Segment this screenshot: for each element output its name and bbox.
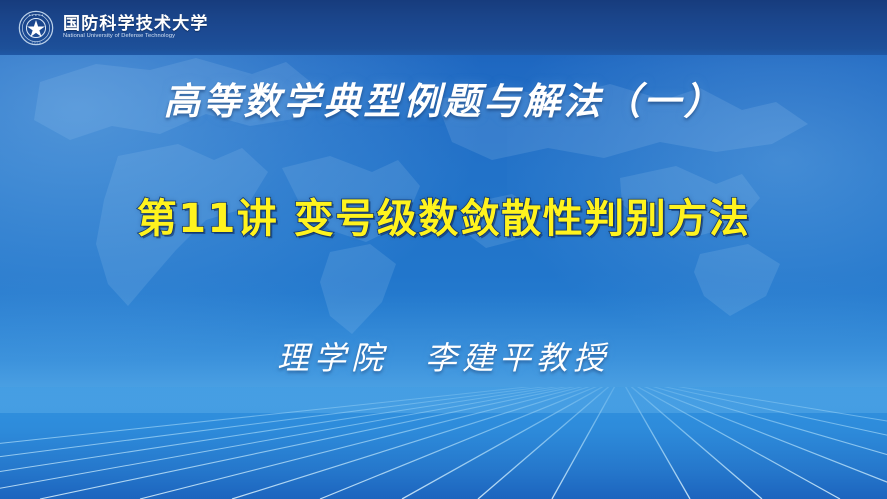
lecture-subtitle: 第11讲 变号级数敛散性判别方法	[0, 195, 887, 243]
perspective-grid-floor	[0, 387, 887, 499]
university-name-en: National University of Defense Technolog…	[63, 34, 212, 40]
presentation-title-slide: ★ ★ ★ ★ ★ 1 9 5 3 国防科学技术大学 National Univ…	[0, 0, 887, 499]
university-name-cn: 国防科学技术大学	[63, 16, 209, 33]
nudt-star-emblem-icon: ★ ★ ★ ★ ★ 1 9 5 3	[18, 10, 54, 46]
presenter-line: 理学院 李建平教授	[0, 338, 887, 378]
university-branding: ★ ★ ★ ★ ★ 1 9 5 3 国防科学技术大学 National Univ…	[18, 10, 209, 46]
header-band: ★ ★ ★ ★ ★ 1 9 5 3 国防科学技术大学 National Univ…	[0, 0, 887, 55]
svg-text:1 9 5 3: 1 9 5 3	[31, 40, 41, 44]
page-title: 高等数学典型例题与解法（一）	[0, 78, 887, 124]
svg-text:★ ★ ★ ★ ★: ★ ★ ★ ★ ★	[28, 13, 44, 17]
university-name-block: 国防科学技术大学 National University of Defense …	[63, 16, 209, 40]
